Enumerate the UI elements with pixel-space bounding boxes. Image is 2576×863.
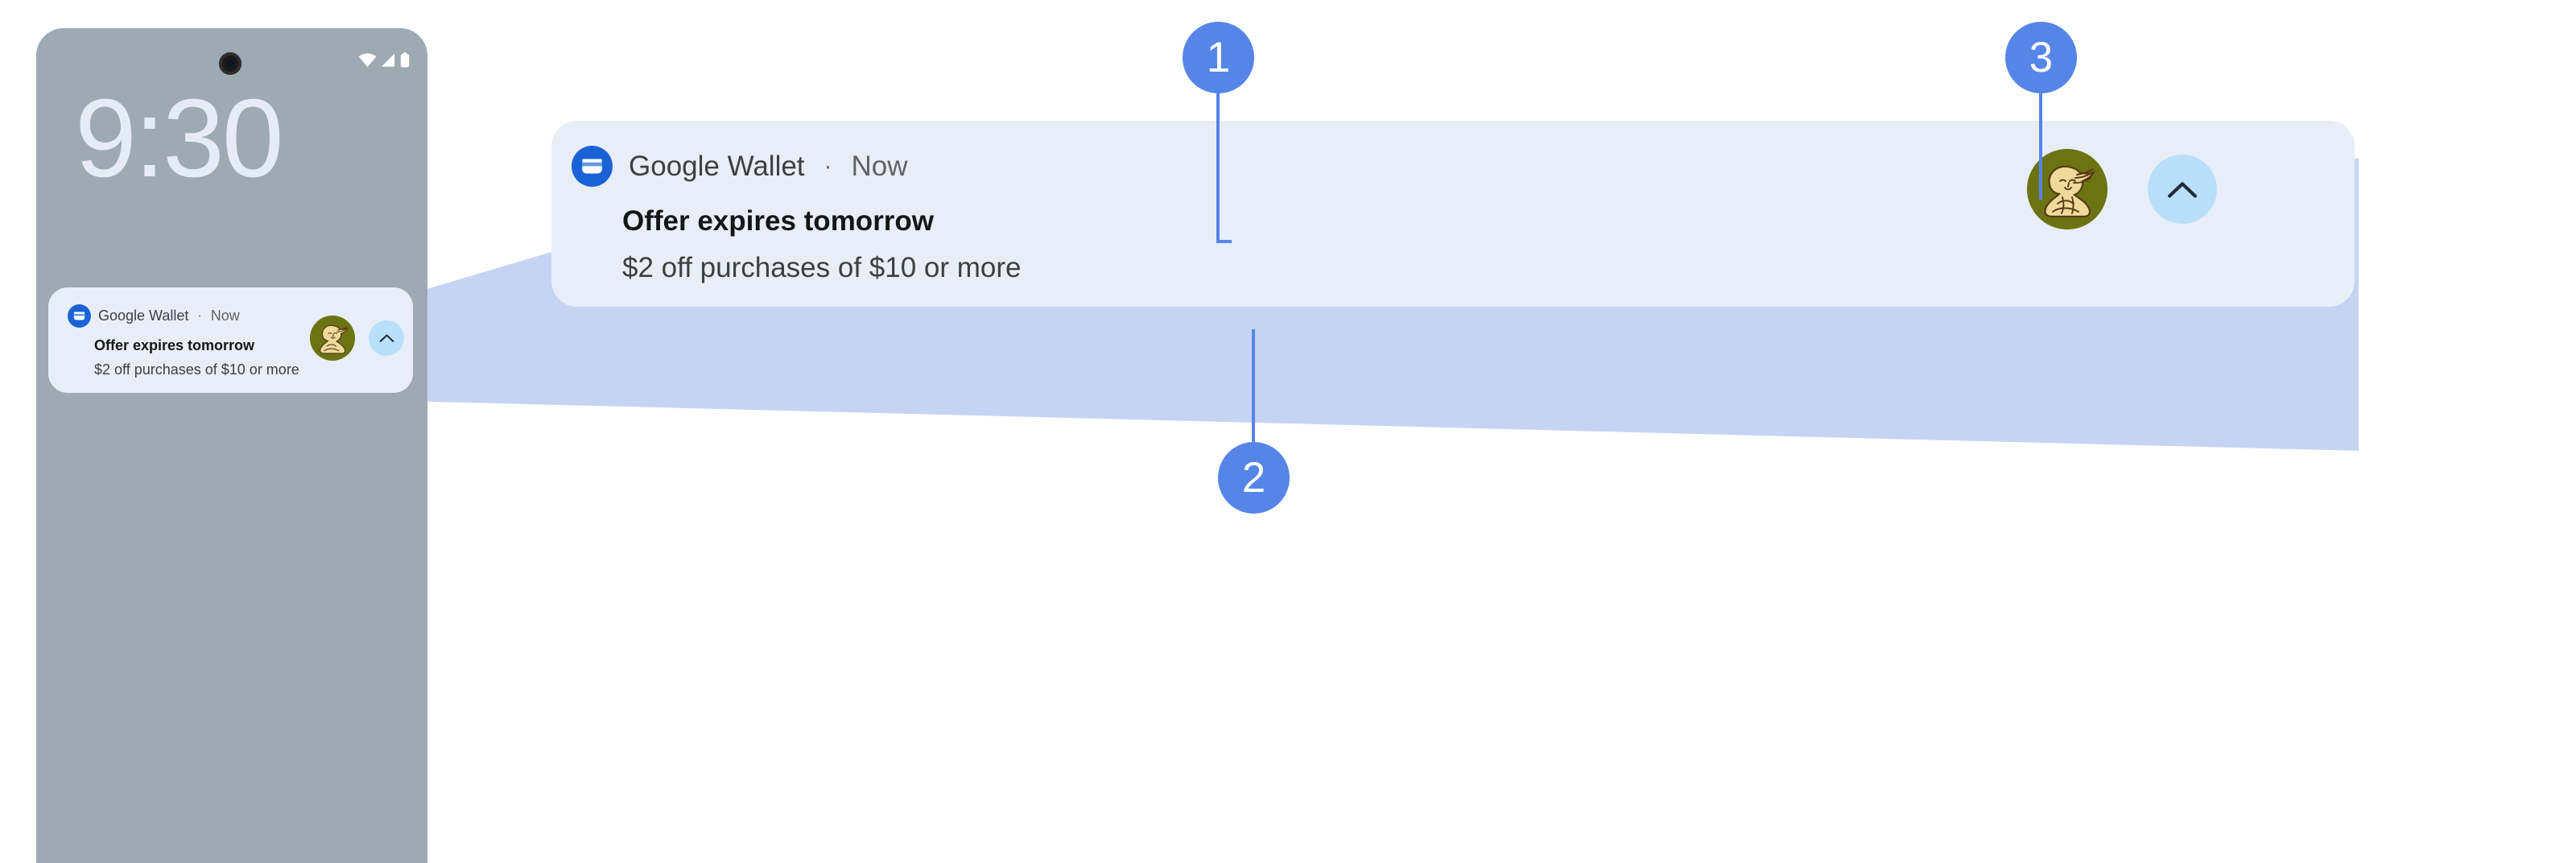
lock-screen-clock: 9:30 [75, 83, 282, 194]
callout-leader-elbow [1216, 240, 1232, 243]
callout-number: 3 [2005, 22, 2077, 93]
chevron-up-icon[interactable] [369, 320, 404, 356]
notification-separator: · [824, 153, 832, 180]
camera-punch-hole-icon [219, 52, 242, 75]
callout-leader-line [2039, 91, 2042, 200]
callout-number: 2 [1218, 442, 1290, 514]
merchant-avatar-icon [310, 316, 355, 361]
callout-leader-line [1216, 91, 1220, 243]
notification-title: Offer expires tomorrow [94, 337, 254, 354]
notification-header-small: Google Wallet · Now [68, 304, 240, 328]
notification-separator: · [197, 309, 201, 324]
google-wallet-icon [68, 304, 91, 328]
screenshot-stage: 9:30 Google Wallet · Now Offer expires t… [0, 0, 2576, 863]
chevron-up-icon[interactable] [2148, 155, 2217, 224]
callout-number: 1 [1183, 22, 1254, 93]
wifi-icon [358, 53, 377, 68]
status-icon-group [358, 52, 410, 68]
notification-app-name: Google Wallet [629, 151, 805, 183]
google-wallet-icon [572, 146, 613, 187]
cellular-signal-icon [381, 53, 396, 68]
battery-icon [400, 52, 410, 68]
notification-card-large[interactable]: Google Wallet · Now Offer expires tomorr… [551, 121, 2355, 307]
notification-header-large: Google Wallet · Now [572, 146, 908, 187]
notification-title: Offer expires tomorrow [622, 205, 934, 237]
notification-timestamp: Now [852, 151, 908, 183]
notification-body: $2 off purchases of $10 or more [94, 361, 299, 378]
notification-timestamp: Now [211, 308, 240, 324]
notification-card-small[interactable]: Google Wallet · Now Offer expires tomorr… [48, 287, 413, 393]
phone-mockup: 9:30 Google Wallet · Now Offer expires t… [36, 28, 427, 863]
callout-leader-line [1252, 329, 1255, 442]
notification-app-name: Google Wallet [98, 308, 188, 324]
notification-body: $2 off purchases of $10 or more [622, 252, 1022, 284]
